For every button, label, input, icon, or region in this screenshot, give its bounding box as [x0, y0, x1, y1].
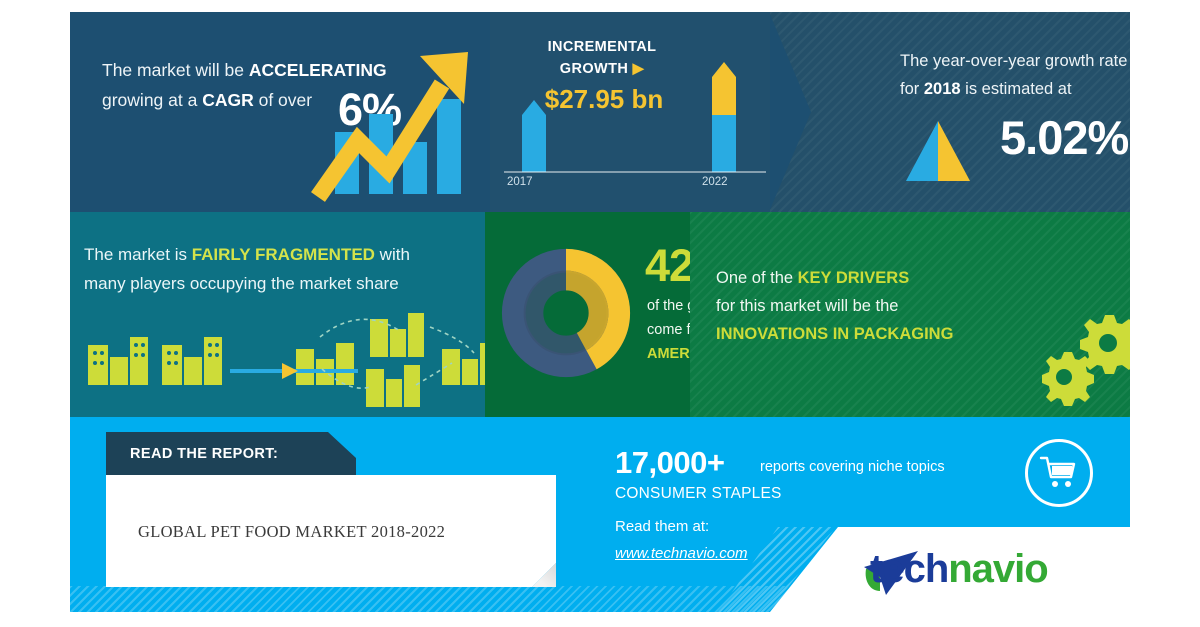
drivers-line1-a: One of the	[716, 269, 798, 287]
triangle-up-icon	[898, 117, 988, 187]
panel-fragmented: The market is FAIRLY FRAGMENTED with man…	[70, 212, 485, 417]
cagr-chart	[70, 12, 490, 212]
read-at-label: Read them at:	[615, 518, 709, 535]
footer-bar: READ THE REPORT: GLOBAL PET FOOD MARKET …	[70, 417, 1130, 612]
growth-arrow-icon	[70, 12, 490, 212]
infographic-body: The market will be ACCELERATING growing …	[70, 12, 1130, 612]
frag-highlight: FAIRLY FRAGMENTED	[192, 245, 375, 264]
drivers-line3: INNOVATIONS IN PACKAGING	[716, 325, 953, 343]
shopping-cart-icon	[1039, 453, 1079, 493]
fragmented-text: The market is FAIRLY FRAGMENTED with man…	[84, 240, 484, 298]
drivers-highlight: KEY DRIVERS	[798, 269, 910, 287]
logo-navio: navio	[948, 547, 1047, 591]
drivers-line2: for this market will be the	[716, 297, 898, 315]
frag-line2: many players occupying the market share	[84, 274, 399, 293]
cart-icon-circle[interactable]	[1025, 439, 1093, 507]
reports-caption: reports covering niche topics	[760, 459, 945, 475]
panel-yoy-growth: The year-over-year growth rate for 2018 …	[770, 12, 1130, 212]
yoy-line1: The year-over-year growth rate	[900, 52, 1127, 70]
reports-count: 17,000+	[615, 445, 724, 481]
bar-2022-base	[712, 115, 736, 172]
axis-label-2022: 2022	[702, 176, 728, 188]
website-url[interactable]: www.technavio.com	[615, 545, 748, 562]
technavio-wordmark: technavio	[870, 547, 1048, 592]
frag-line1-c: with	[375, 245, 410, 264]
report-category: CONSUMER STAPLES	[615, 485, 782, 503]
frag-line1-a: The market is	[84, 245, 192, 264]
report-title-card[interactable]: GLOBAL PET FOOD MARKET 2018-2022	[106, 475, 556, 587]
donut-chart	[497, 244, 635, 382]
bar-2017	[522, 100, 546, 172]
row-middle: The market is FAIRLY FRAGMENTED with man…	[70, 212, 1130, 417]
ribbon-label: READ THE REPORT:	[130, 446, 278, 462]
yoy-value: 5.02%	[1000, 110, 1128, 165]
yoy-year: 2018	[924, 80, 961, 98]
yoy-line2-a: for	[900, 80, 924, 98]
gears-icon	[1035, 312, 1130, 407]
row-top: The market will be ACCELERATING growing …	[70, 12, 1130, 212]
incremental-bars	[490, 12, 780, 212]
axis-label-2017: 2017	[507, 176, 533, 188]
read-the-report-ribbon: READ THE REPORT:	[106, 432, 356, 480]
panel-americas: 42% of the growth will come from the AME…	[485, 212, 690, 417]
panel-key-drivers: One of the KEY DRIVERS for this market w…	[690, 212, 1130, 417]
panel-cagr: The market will be ACCELERATING growing …	[70, 12, 490, 212]
buildings-icon	[70, 307, 485, 417]
panel-incremental-growth: INCREMENTAL GROWTH ▶ $27.95 bn 2017 2022	[490, 12, 780, 212]
infographic-canvas: The market will be ACCELERATING growing …	[0, 0, 1200, 627]
yoy-line2-c: is estimated at	[961, 80, 1072, 98]
logo-tech: tech	[870, 547, 948, 591]
report-title: GLOBAL PET FOOD MARKET 2018-2022	[138, 522, 445, 542]
chart-axis	[504, 171, 766, 173]
yoy-text: The year-over-year growth rate for 2018 …	[900, 47, 1130, 103]
